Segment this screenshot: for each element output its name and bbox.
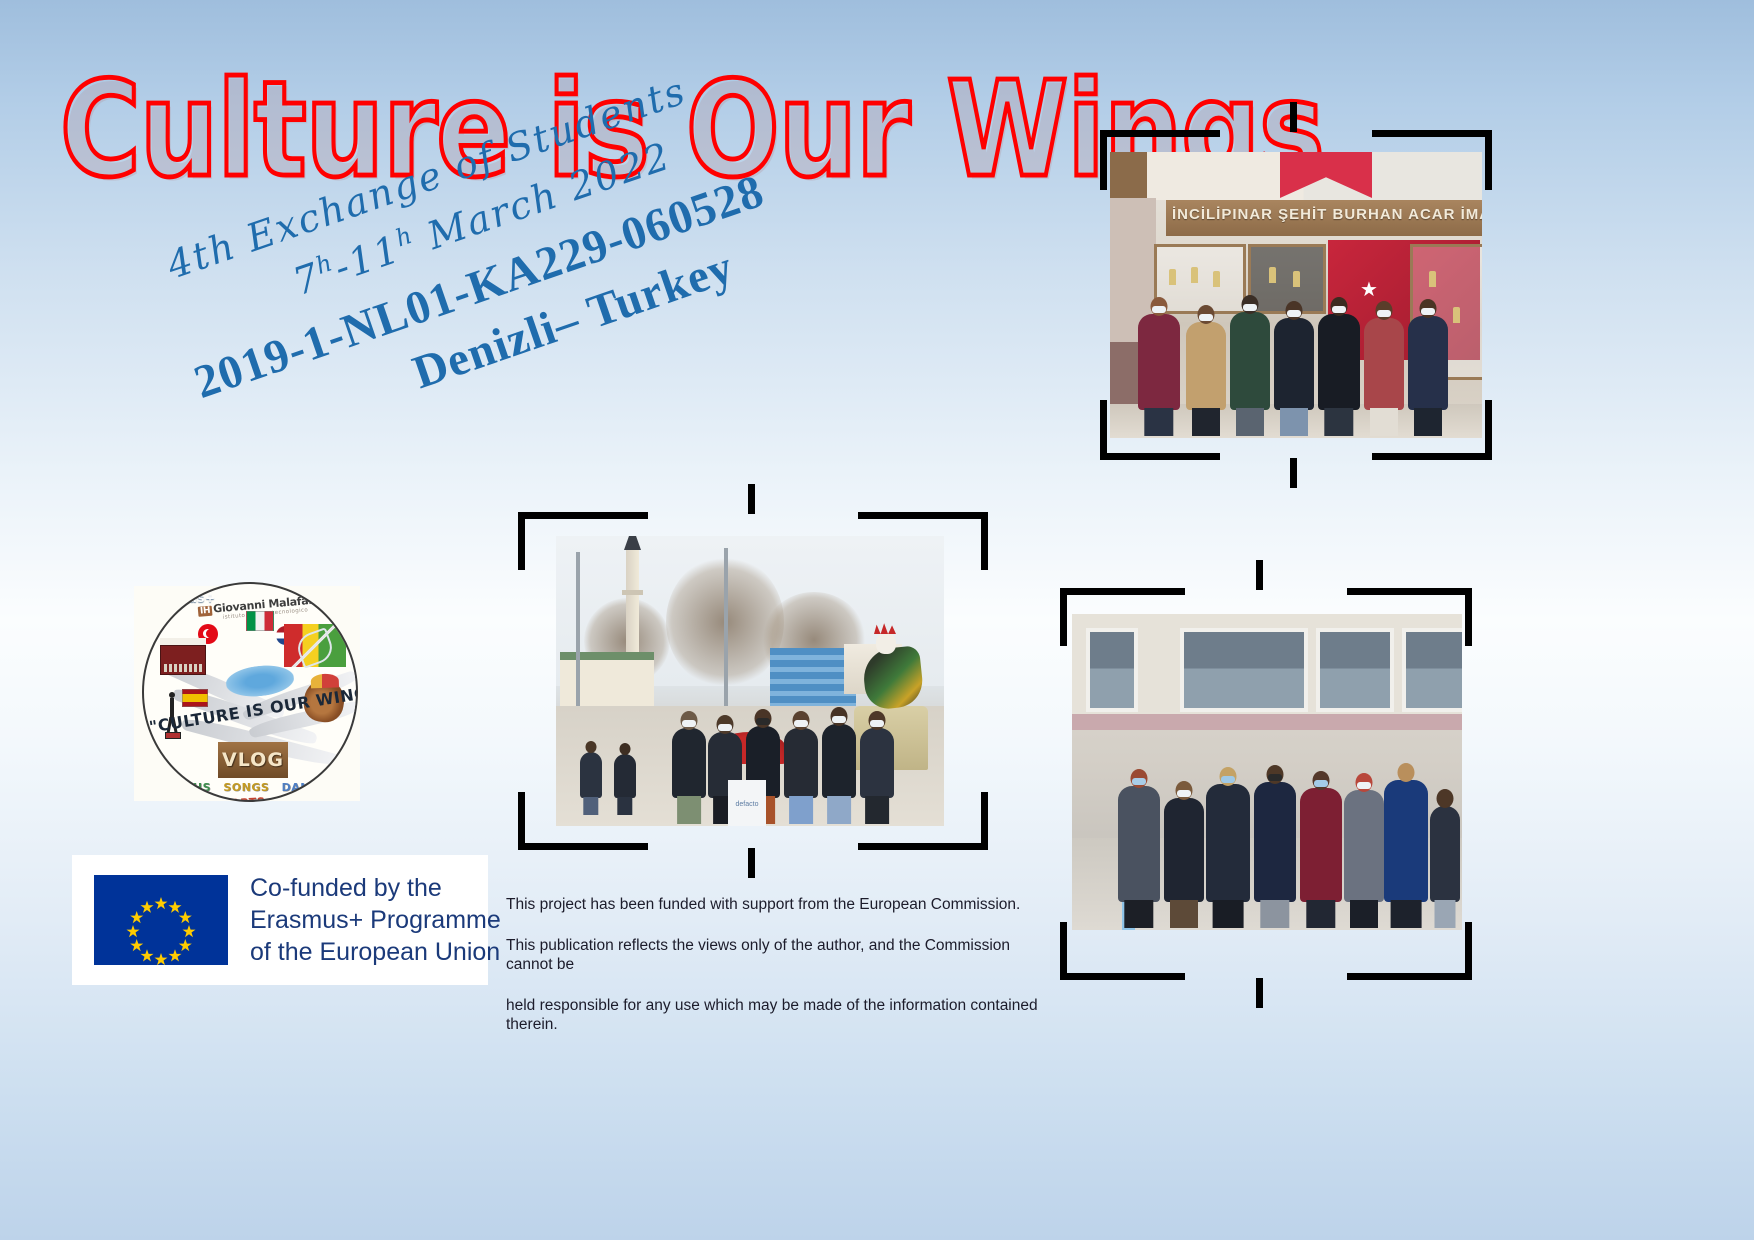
bracket-right-top <box>981 512 988 570</box>
bracket-top-right <box>858 512 988 519</box>
project-logo: IHGiovanni Malafarina istituto tecnico t… <box>134 586 360 801</box>
eu-text-line-3: of the European Union <box>250 936 501 968</box>
disclaimer-paragraph-3: held responsible for any use which may b… <box>506 996 1046 1034</box>
bracket-bottom-left <box>518 843 648 850</box>
erasmus-badge-label: Erasmus+ <box>144 591 212 605</box>
photo-school-entrance: İNCİLİPINAR ŞEHİT BURHAN ACAR İMA ★ <box>1110 152 1482 438</box>
keyword-sports: SPORTS <box>213 795 265 802</box>
photo-teachers-group <box>1072 614 1462 930</box>
photo-frame-school-entrance: İNCİLİPINAR ŞEHİT BURHAN ACAR İMA ★ <box>1100 130 1492 460</box>
bracket-bottom-right <box>1372 453 1492 460</box>
bracket-left-top <box>518 512 525 570</box>
bracket-bottom-right <box>1347 973 1472 980</box>
spain-flag-icon <box>182 689 208 707</box>
keyword-songs: SONGS <box>223 781 269 794</box>
photo-town-square: defacto <box>556 536 944 826</box>
bracket-top-left <box>1060 588 1185 595</box>
school-building-icon <box>160 638 206 675</box>
bracket-top-stub <box>1290 102 1297 132</box>
keyword-recipes: RECIPES <box>277 792 333 802</box>
partner-artwork-icon <box>284 624 346 667</box>
bracket-bottom-stub <box>748 848 755 878</box>
shopping-bag-label: defacto <box>730 801 764 808</box>
vlog-label: VLOG <box>218 742 288 778</box>
eu-text-line-2: Erasmus+ Programme <box>250 904 501 936</box>
bracket-top-right <box>1347 588 1472 595</box>
bracket-right-top <box>1465 588 1472 646</box>
bracket-top-left <box>1100 130 1220 137</box>
project-logo-circle: IHGiovanni Malafarina istituto tecnico t… <box>142 582 358 802</box>
disclaimer-paragraph-2: This publication reflects the views only… <box>506 936 1046 974</box>
bracket-bottom-right <box>858 843 988 850</box>
bracket-right-top <box>1485 130 1492 190</box>
bracket-top-stub <box>1256 560 1263 590</box>
eu-stars-circle <box>94 875 228 965</box>
poster-canvas: Culture is Our Wings 4th Exchange of Stu… <box>0 0 1754 1240</box>
bracket-left-bottom <box>518 792 525 850</box>
photo-frame-town-square: defacto <box>518 512 988 850</box>
keyword-arts: ARTS <box>167 799 202 802</box>
disclaimer-paragraph-1: This project has been funded with suppor… <box>506 895 1046 914</box>
bracket-right-bottom <box>1465 922 1472 980</box>
bracket-top-right <box>1372 130 1492 137</box>
eu-cofunding-logo: Co-funded by the Erasmus+ Programme of t… <box>72 855 488 985</box>
bracket-bottom-stub <box>1256 978 1263 1008</box>
bracket-left-top <box>1060 588 1067 646</box>
bracket-right-bottom <box>1485 400 1492 460</box>
people-group <box>1072 614 1462 930</box>
photo-frame-teachers-group <box>1060 588 1472 980</box>
people-group <box>1110 152 1482 438</box>
european-union-flag-icon <box>94 875 228 965</box>
keyword-myths: MYTHS <box>165 781 211 794</box>
italy-flag-icon <box>246 611 274 631</box>
eu-text-line-1: Co-funded by the <box>250 872 501 904</box>
bracket-left-bottom <box>1060 922 1067 980</box>
bracket-top-left <box>518 512 648 519</box>
school-monogram: IH <box>198 606 213 617</box>
bracket-bottom-left <box>1060 973 1185 980</box>
bracket-left-bottom <box>1100 400 1107 460</box>
eu-cofunding-text: Co-funded by the Erasmus+ Programme of t… <box>250 872 501 968</box>
bracket-bottom-stub <box>1290 458 1297 488</box>
project-keywords: MYTHS SONGS DANCES ARTS SPORTS RECIPES H… <box>156 780 344 802</box>
bracket-left-top <box>1100 130 1107 190</box>
bracket-bottom-left <box>1100 453 1220 460</box>
funding-disclaimer: This project has been funded with suppor… <box>506 895 1046 1056</box>
bracket-right-bottom <box>981 792 988 850</box>
bracket-top-stub <box>748 484 755 514</box>
